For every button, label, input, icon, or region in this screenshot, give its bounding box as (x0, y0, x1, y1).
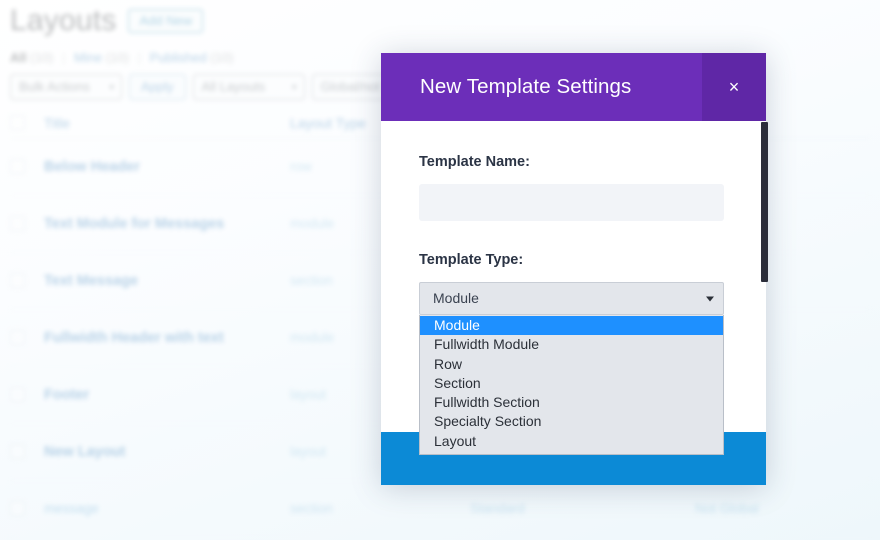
select-all-checkbox[interactable] (10, 115, 25, 130)
view-count-all: (10) (30, 50, 53, 65)
template-type-select[interactable]: Module (419, 282, 724, 315)
template-name-label: Template Name: (419, 154, 730, 170)
row-title[interactable]: Text Message (44, 252, 290, 309)
view-link-all[interactable]: All (10, 50, 27, 65)
apply-button[interactable]: Apply (129, 74, 186, 100)
list-toolbar: Bulk Actions Apply All Layouts Global/no… (10, 74, 444, 100)
screen-root: Layouts Add New All (10) | Mine (10) | P… (0, 0, 880, 540)
page-header: Layouts Add New (10, 4, 203, 38)
close-icon[interactable]: × (702, 53, 766, 121)
row-title[interactable]: Footer (44, 366, 290, 423)
row-checkbox[interactable] (10, 216, 25, 231)
view-count-published: (10) (210, 50, 233, 65)
view-filter-links: All (10) | Mine (10) | Published (10) (10, 50, 233, 65)
row-checkbox-cell (10, 366, 44, 423)
new-template-settings-modal: New Template Settings × Template Name: T… (381, 53, 766, 485)
row-checkbox-cell (10, 423, 44, 480)
template-type-select-wrapper: Module Module Fullwidth Module Row Secti… (419, 282, 724, 315)
option-fullwidth-module[interactable]: Fullwidth Module (420, 335, 723, 354)
row-global: Not Global (695, 480, 870, 537)
row-title[interactable]: Fullwidth Header with text (44, 309, 290, 366)
row-checkbox-cell (10, 480, 44, 537)
view-separator-2: | (138, 50, 141, 65)
row-checkbox-cell (10, 309, 44, 366)
row-checkbox[interactable] (10, 501, 25, 516)
option-fullwidth-section[interactable]: Fullwidth Section (420, 393, 723, 412)
modal-scrollbar[interactable] (761, 122, 768, 282)
template-type-label: Template Type: (419, 252, 730, 268)
view-separator-1: | (62, 50, 65, 65)
option-specialty-section[interactable]: Specialty Section (420, 412, 723, 431)
row-checkbox[interactable] (10, 444, 25, 459)
option-row[interactable]: Row (420, 355, 723, 374)
row-checkbox-cell (10, 252, 44, 309)
layout-type-filter-select[interactable]: All Layouts (193, 74, 305, 100)
modal-title: New Template Settings (381, 75, 631, 99)
option-module[interactable]: Module (420, 316, 723, 335)
row-layout-type: section (290, 480, 470, 537)
row-title[interactable]: New Layout (44, 423, 290, 480)
view-count-mine: (10) (106, 50, 129, 65)
option-layout[interactable]: Layout (420, 432, 723, 451)
row-checkbox[interactable] (10, 387, 25, 402)
modal-header: New Template Settings × (381, 53, 766, 121)
modal-scrollbar-thumb[interactable] (761, 122, 768, 282)
row-title[interactable]: Below Header (44, 138, 290, 195)
row-checkbox-cell (10, 195, 44, 252)
row-title[interactable]: Text Module for Messages (44, 195, 290, 252)
row-checkbox[interactable] (10, 273, 25, 288)
row-checkbox[interactable] (10, 159, 25, 174)
row-checkbox[interactable] (10, 330, 25, 345)
table-row[interactable]: message section Standard Not Global (10, 480, 870, 537)
template-type-selected-value: Module (433, 290, 479, 306)
column-header-title[interactable]: Title (44, 108, 290, 138)
template-type-options-list[interactable]: Module Fullwidth Module Row Section Full… (419, 315, 724, 455)
row-title[interactable]: message (44, 480, 290, 537)
select-all-header (10, 108, 44, 138)
bulk-actions-select[interactable]: Bulk Actions (10, 74, 122, 100)
page-title: Layouts (10, 4, 116, 38)
view-link-mine[interactable]: Mine (74, 50, 102, 65)
modal-body: Template Name: Template Type: Module Mod… (381, 121, 766, 432)
row-standard: Standard (470, 480, 695, 537)
view-link-published[interactable]: Published (150, 50, 207, 65)
row-checkbox-cell (10, 138, 44, 195)
template-name-input[interactable] (419, 184, 724, 221)
option-section[interactable]: Section (420, 374, 723, 393)
chevron-down-icon (706, 296, 714, 301)
add-new-button[interactable]: Add New (128, 9, 203, 33)
